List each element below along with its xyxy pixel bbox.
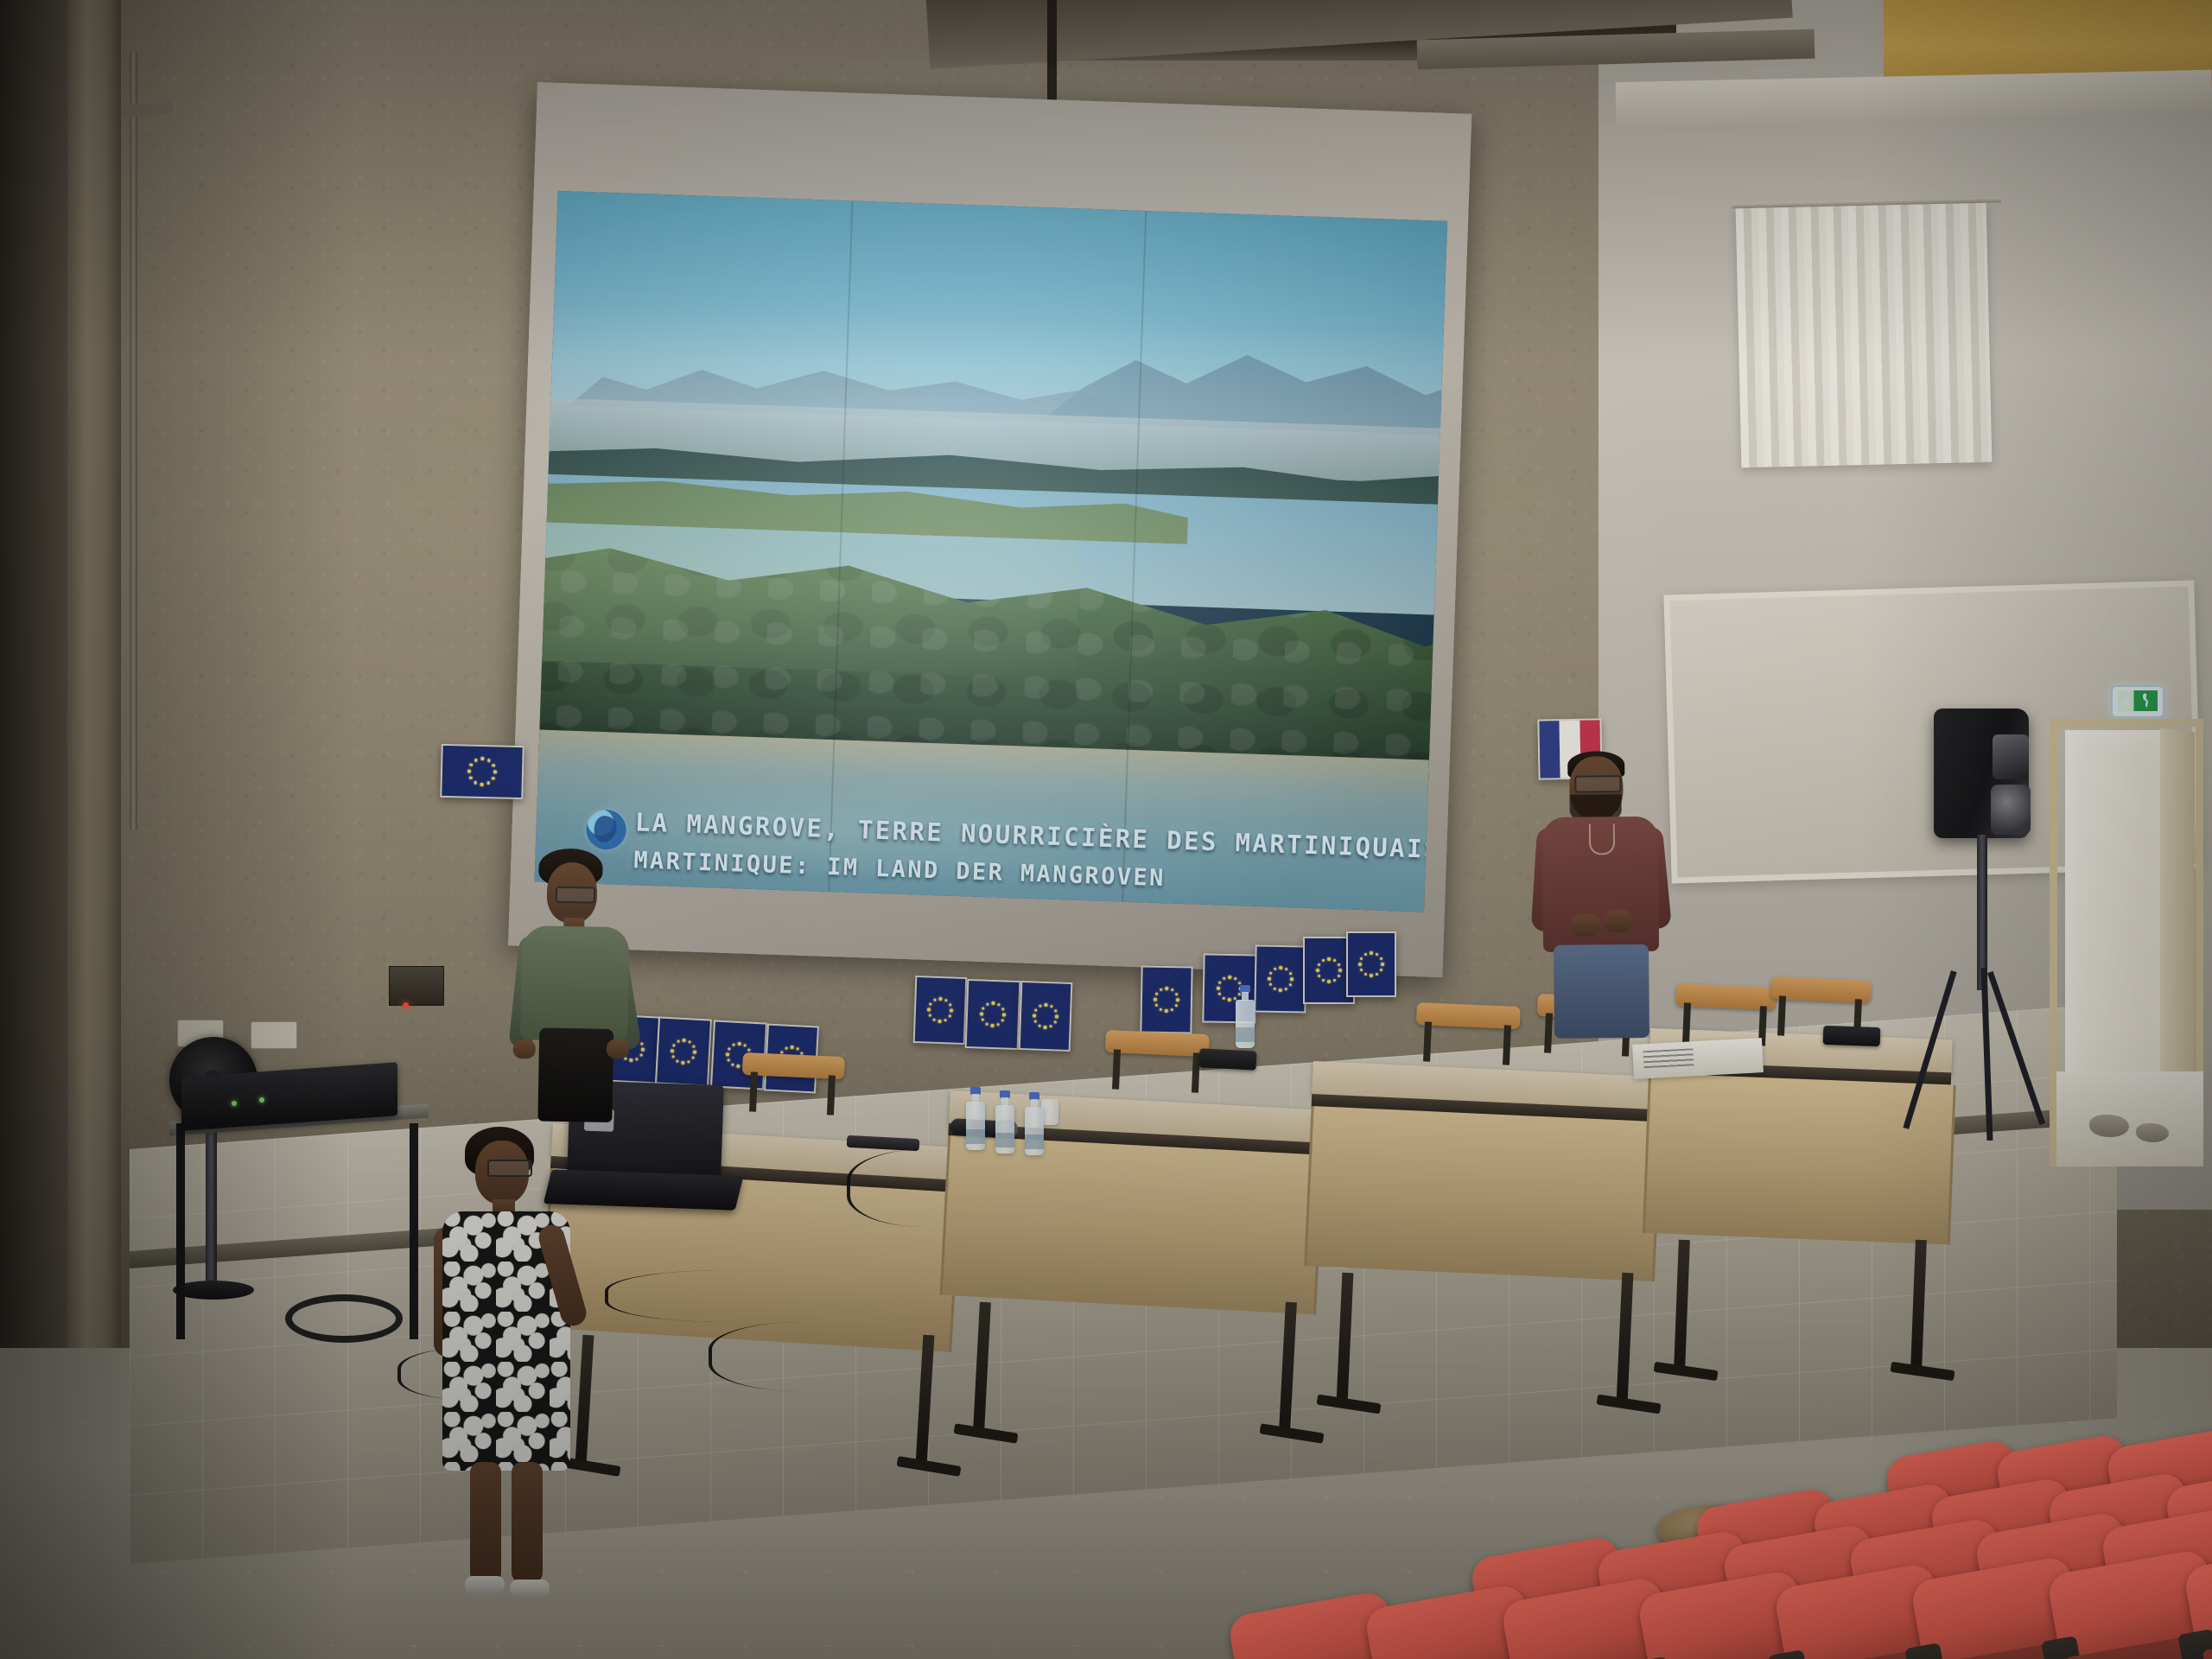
eu-flag-row-item	[1254, 944, 1306, 1013]
eu-flag-row-item	[655, 1016, 712, 1086]
eu-stars	[1218, 977, 1241, 1000]
eu-flag-row-item	[913, 976, 968, 1045]
projection-screen: LA MANGROVE, TERRE NOURRICIÈRE DES MARTI…	[508, 82, 1471, 977]
eu-flag-row-item	[1019, 981, 1073, 1052]
left-leg	[470, 1462, 501, 1583]
tripod-leg-c	[1987, 971, 2045, 1125]
cable	[605, 1270, 902, 1322]
eu-stars	[1318, 959, 1340, 982]
right-leg	[512, 1462, 543, 1583]
eu-stars	[1155, 988, 1178, 1011]
cable	[847, 1149, 1040, 1227]
jeans	[1554, 944, 1649, 1039]
eu-flag-row-item	[1346, 931, 1396, 997]
eu-stars	[1360, 953, 1382, 976]
subtitle-line-2: MARTINIQUE: IM LAND DER MANGROVEN	[633, 847, 1166, 892]
wall-pipe	[130, 52, 137, 829]
laptop-base[interactable]	[543, 1169, 744, 1210]
projected-image: LA MANGROVE, TERRE NOURRICIÈRE DES MARTI…	[535, 191, 1448, 912]
auditorium-presentation-scene: LA MANGROVE, TERRE NOURRICIÈRE DES MARTI…	[0, 0, 2212, 1659]
av-led-b	[259, 1097, 264, 1103]
eu-stars	[1269, 968, 1292, 990]
eu-stars	[982, 1003, 1005, 1027]
left-hand	[513, 1039, 536, 1058]
table-panel	[1304, 1106, 1662, 1281]
eu-stars	[469, 759, 496, 785]
eu-flag-row-item	[1140, 965, 1192, 1033]
torso	[520, 925, 629, 1041]
bottle-body	[966, 1102, 985, 1150]
bottle-body	[1025, 1107, 1044, 1155]
smartphone[interactable]	[1198, 1048, 1256, 1070]
tripod-leg-a	[1903, 970, 1956, 1129]
left-hand	[1571, 913, 1600, 936]
support-pillar	[67, 0, 121, 1348]
bottle-body	[1236, 1000, 1255, 1048]
left-shoe	[465, 1576, 505, 1593]
cable	[709, 1322, 937, 1391]
tripod-leg-b	[1981, 968, 1993, 1141]
eu-flag-wall	[440, 744, 524, 799]
bottle-body	[995, 1105, 1014, 1154]
doorway-daylight	[2056, 1071, 2203, 1166]
speaker-woofer	[1991, 785, 2031, 835]
right-hand	[1604, 910, 1633, 932]
power-led	[403, 1002, 409, 1008]
eu-stars	[929, 999, 952, 1022]
exit-sign	[2111, 685, 2164, 718]
remote-control[interactable]	[1823, 1026, 1881, 1046]
av-led-a	[232, 1101, 237, 1106]
glasses-icon	[1574, 775, 1621, 792]
window-curtain	[1736, 203, 1993, 468]
glasses-icon	[487, 1160, 532, 1177]
right-hand	[607, 1039, 629, 1058]
debris-a	[2089, 1115, 2129, 1137]
necklace	[1589, 823, 1615, 855]
cable-coil	[285, 1294, 403, 1343]
skirt	[537, 1027, 613, 1122]
eu-flag-row-item	[965, 979, 1021, 1050]
glasses-icon	[556, 887, 595, 904]
documents[interactable]	[1632, 1038, 1764, 1079]
ac-control-box[interactable]	[389, 966, 444, 1006]
eu-stars	[671, 1039, 695, 1063]
right-shoe	[510, 1580, 550, 1597]
eu-stars	[1034, 1005, 1058, 1028]
debris-b	[2136, 1123, 2169, 1142]
drinking-glass[interactable]	[1041, 1099, 1058, 1125]
globe-icon	[586, 809, 627, 850]
speaker-horn	[1993, 734, 2029, 779]
